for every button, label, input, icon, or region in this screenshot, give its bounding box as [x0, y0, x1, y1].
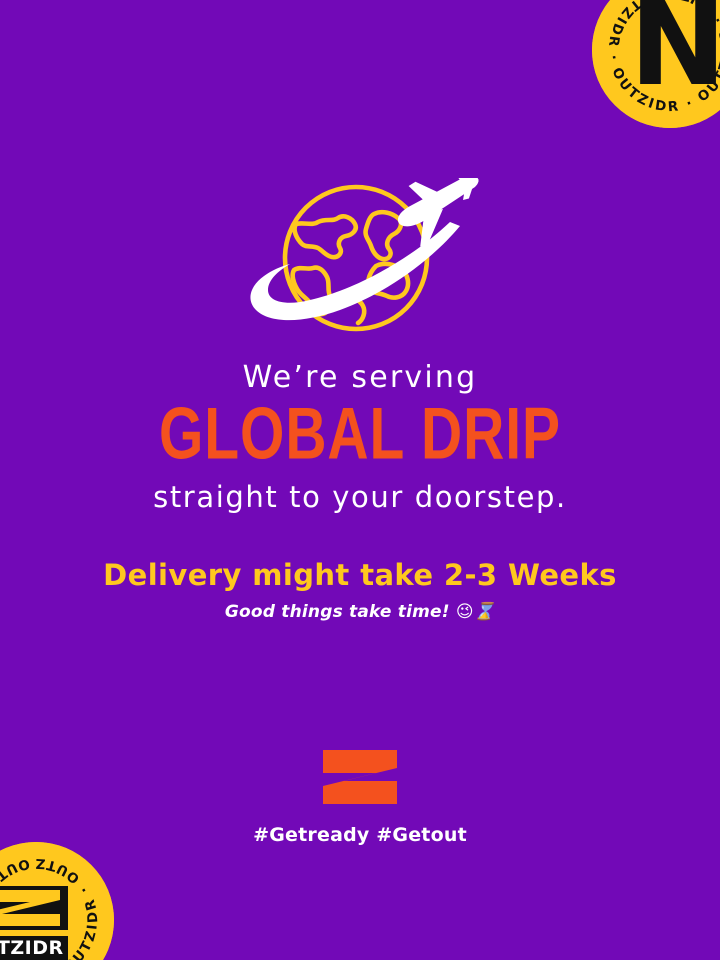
brand-stamp-bottom-left: OUTZIDR · OUTZIDR · OUTZIDR · OUTZIDR · … [0, 842, 114, 960]
delivery-subtext: Good things take time! 😉⌛ [0, 604, 720, 622]
z-monogram-logo [320, 748, 400, 806]
page-title: GLOBAL DRIP [29, 398, 691, 471]
globe-airplane-icon [234, 178, 486, 346]
brand-stamp-top-right: OUTZIDR · OUTZIDR · OUTZIDR · OUTZIDR · … [592, 0, 720, 128]
tagline-serving: We’re serving [0, 362, 720, 394]
footer-brand-block: #Getready #Getout [0, 748, 720, 846]
stamp-center-letter-top-right: N [629, 0, 720, 112]
delivery-notice: Delivery might take 2-3 Weeks [0, 560, 720, 590]
poster-copy-block: We’re serving GLOBAL DRIP straight to yo… [0, 362, 720, 622]
poster-canvas: We’re serving GLOBAL DRIP straight to yo… [0, 0, 720, 960]
stamp-wordmark-bottom-left: OUTZIDR [0, 937, 64, 959]
tagline-doorstep: straight to your doorstep. [0, 482, 720, 512]
